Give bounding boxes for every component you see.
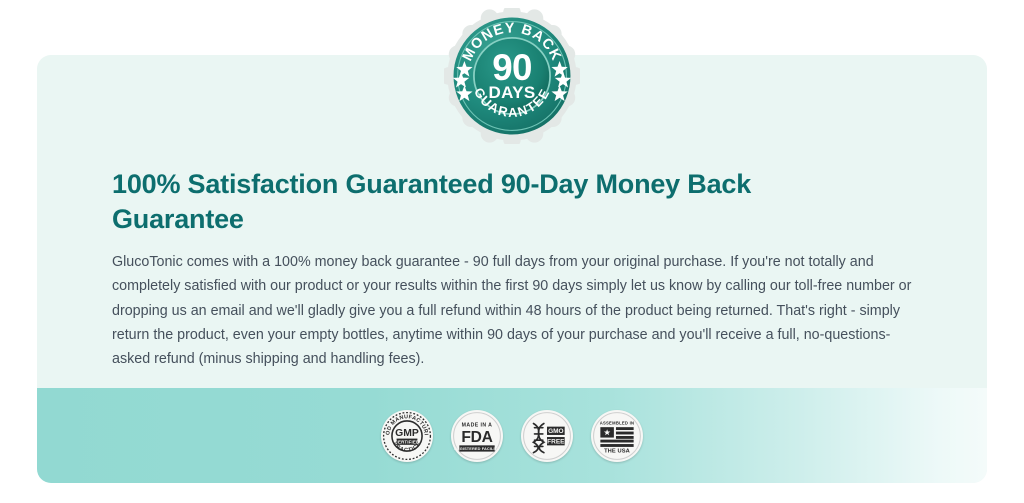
fda-line2: FDA xyxy=(461,429,492,446)
usa-line2: THE USA xyxy=(604,448,630,454)
badge-number: 90 xyxy=(492,47,531,88)
seal-gmp-certified: GOOD MANUFACTURING PRACTICE GMP CERTIFIE… xyxy=(381,410,433,462)
gmp-line1: GMP xyxy=(395,428,419,439)
certification-band: GOOD MANUFACTURING PRACTICE GMP CERTIFIE… xyxy=(37,388,987,483)
badge-unit: DAYS xyxy=(488,83,535,102)
usa-line1: ASSEMBLED IN xyxy=(600,420,635,425)
seal-assembled-in-usa: ASSEMBLED IN THE USA xyxy=(591,410,643,462)
fda-line3: REGISTERED FACILITY xyxy=(454,446,500,451)
seal-gmo-free: GMO FREE xyxy=(521,410,573,462)
gmo-line1: GMO xyxy=(548,428,564,435)
gmp-line2: CERTIFIED xyxy=(395,439,420,444)
money-back-guarantee-badge: MONEY BACK GUARANTEE 90 DAYS xyxy=(444,8,580,144)
page-title: 100% Satisfaction Guaranteed 90-Day Mone… xyxy=(112,167,872,237)
seal-fda-registered: MADE IN A FDA REGISTERED FACILITY xyxy=(451,410,503,462)
fda-line1: MADE IN A xyxy=(462,422,493,428)
gmo-line2: FREE xyxy=(547,438,565,445)
guarantee-description: GlucoTonic comes with a 100% money back … xyxy=(112,250,912,371)
page-root: 100% Satisfaction Guaranteed 90-Day Mone… xyxy=(0,0,1024,503)
